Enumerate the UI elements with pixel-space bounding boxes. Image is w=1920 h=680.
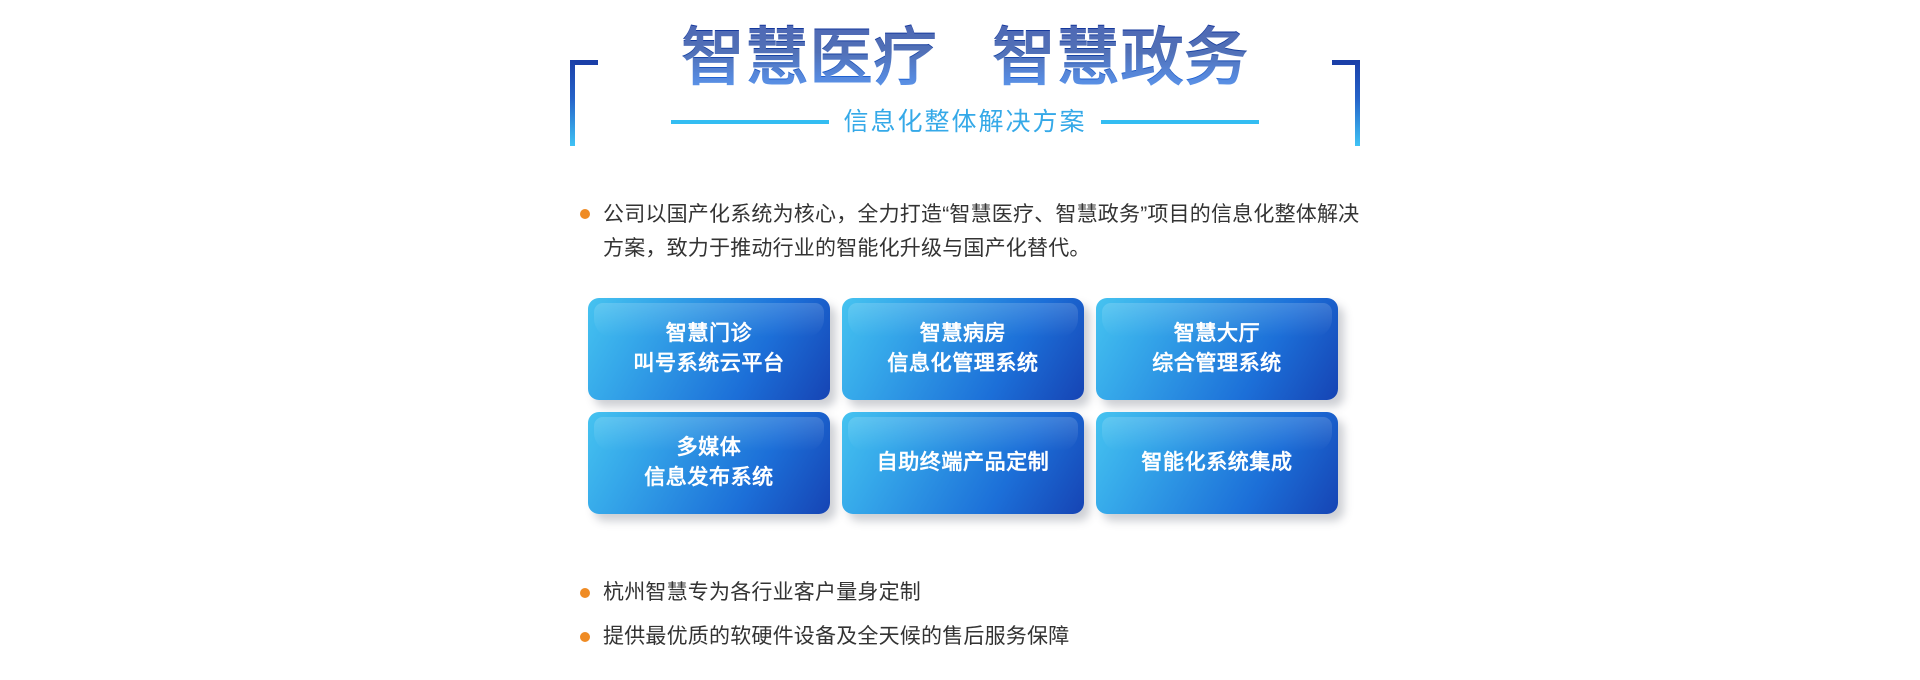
orange-dot-icon xyxy=(580,632,590,642)
card-line-2: 叫号系统云平台 xyxy=(633,352,784,375)
solution-card-smart-lobby[interactable]: 智慧大厅 综合管理系统 xyxy=(1096,298,1338,400)
list-item: 提供最优质的软硬件设备及全天候的售后服务保障 xyxy=(580,622,1370,652)
solution-card-system-integration[interactable]: 智能化系统集成 xyxy=(1096,412,1338,514)
solution-card-multimedia[interactable]: 多媒体 信息发布系统 xyxy=(588,412,830,514)
page-subtitle: 信息化整体解决方案 xyxy=(843,107,1086,137)
card-line-1: 多媒体 xyxy=(677,436,742,459)
card-label: 多媒体 信息发布系统 xyxy=(644,433,774,493)
page-title: 智慧医疗 智慧政务 xyxy=(570,22,1360,94)
orange-dot-icon xyxy=(580,209,590,219)
title-part-2: 智慧政务 xyxy=(992,22,1248,94)
card-line-1: 自助终端产品定制 xyxy=(877,451,1050,474)
subtitle-rule-right xyxy=(1101,120,1259,124)
card-label: 智慧大厅 综合管理系统 xyxy=(1152,319,1282,379)
card-label: 智慧门诊 叫号系统云平台 xyxy=(633,319,784,379)
lead-paragraph-text: 公司以国产化系统为核心，全力打造“智慧医疗、智慧政务”项目的信息化整体解决方案，… xyxy=(603,198,1370,266)
card-label: 自助终端产品定制 xyxy=(877,448,1050,478)
card-line-1: 智慧门诊 xyxy=(666,322,752,345)
solution-card-grid: 智慧门诊 叫号系统云平台 智慧病房 信息化管理系统 智慧大厅 综合管理系统 xyxy=(588,298,1338,526)
orange-dot-icon xyxy=(580,588,590,598)
card-label: 智慧病房 信息化管理系统 xyxy=(887,319,1038,379)
subtitle-rule-left xyxy=(671,120,829,124)
bullet-text: 提供最优质的软硬件设备及全天候的售后服务保障 xyxy=(603,622,1069,652)
subtitle-row: 信息化整体解决方案 xyxy=(570,106,1360,138)
card-row: 多媒体 信息发布系统 自助终端产品定制 智能化系统集成 xyxy=(588,412,1338,514)
solution-card-smart-ward[interactable]: 智慧病房 信息化管理系统 xyxy=(842,298,1084,400)
promo-banner: 智慧医疗 智慧政务 信息化整体解决方案 公司以国产化系统为核心，全力打造“智慧医… xyxy=(0,0,1920,680)
card-label: 智能化系统集成 xyxy=(1141,448,1292,478)
card-row: 智慧门诊 叫号系统云平台 智慧病房 信息化管理系统 智慧大厅 综合管理系统 xyxy=(588,298,1338,400)
list-item: 杭州智慧专为各行业客户量身定制 xyxy=(580,578,1370,608)
card-line-2: 信息发布系统 xyxy=(644,466,774,489)
bullet-text: 杭州智慧专为各行业客户量身定制 xyxy=(603,578,921,608)
card-line-2: 信息化管理系统 xyxy=(887,352,1038,375)
card-line-1: 智慧病房 xyxy=(920,322,1006,345)
title-part-1: 智慧医疗 xyxy=(682,22,938,94)
card-line-2: 综合管理系统 xyxy=(1152,352,1282,375)
card-line-1: 智慧大厅 xyxy=(1174,322,1260,345)
feature-bullet-list: 杭州智慧专为各行业客户量身定制 提供最优质的软硬件设备及全天候的售后服务保障 xyxy=(580,578,1370,666)
solution-card-smart-clinic[interactable]: 智慧门诊 叫号系统云平台 xyxy=(588,298,830,400)
header: 智慧医疗 智慧政务 信息化整体解决方案 xyxy=(570,22,1360,142)
card-line-1: 智能化系统集成 xyxy=(1141,451,1292,474)
lead-paragraph: 公司以国产化系统为核心，全力打造“智慧医疗、智慧政务”项目的信息化整体解决方案，… xyxy=(580,198,1370,266)
solution-card-self-service-terminal[interactable]: 自助终端产品定制 xyxy=(842,412,1084,514)
